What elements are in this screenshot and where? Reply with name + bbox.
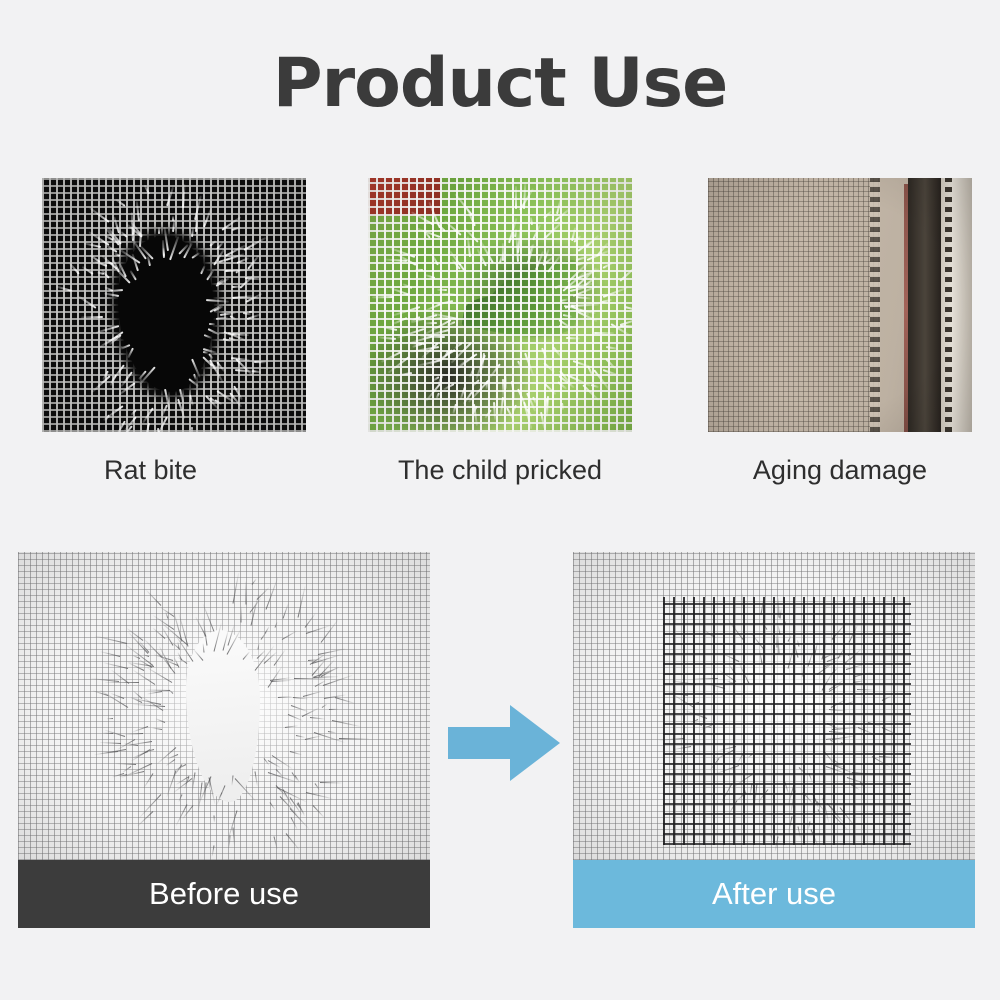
screen-seam (870, 178, 880, 432)
after-use-label-bar: After use (573, 860, 975, 928)
aged-screen-texture (708, 178, 972, 432)
photo-after-use (573, 552, 975, 860)
damage-caption: Aging damage (708, 454, 972, 487)
damage-example-card: Rat bite (42, 178, 306, 487)
frame-shadow-gap (908, 178, 942, 432)
damage-example-card: Aging damage (708, 178, 972, 487)
photo-aging-damage (708, 178, 972, 432)
after-use-card: After use (573, 552, 975, 928)
aged-mesh (708, 178, 880, 432)
photo-before-use (18, 552, 430, 860)
damage-caption: The child pricked (368, 454, 632, 487)
right-arrow-icon (448, 697, 560, 789)
repair-patch (663, 597, 911, 845)
page-title: Product Use (0, 42, 1000, 126)
frayed-fibers (368, 178, 632, 432)
photo-rat-bite (42, 178, 306, 432)
before-use-card: Before use (18, 552, 430, 928)
before-use-label-bar: Before use (18, 860, 430, 928)
photo-child-pricked (368, 178, 632, 432)
damage-example-card: The child pricked (368, 178, 632, 487)
frayed-fibers (18, 552, 430, 860)
frayed-fibers (42, 178, 306, 432)
damage-caption: Rat bite (42, 454, 306, 487)
frame-rail (941, 178, 972, 432)
